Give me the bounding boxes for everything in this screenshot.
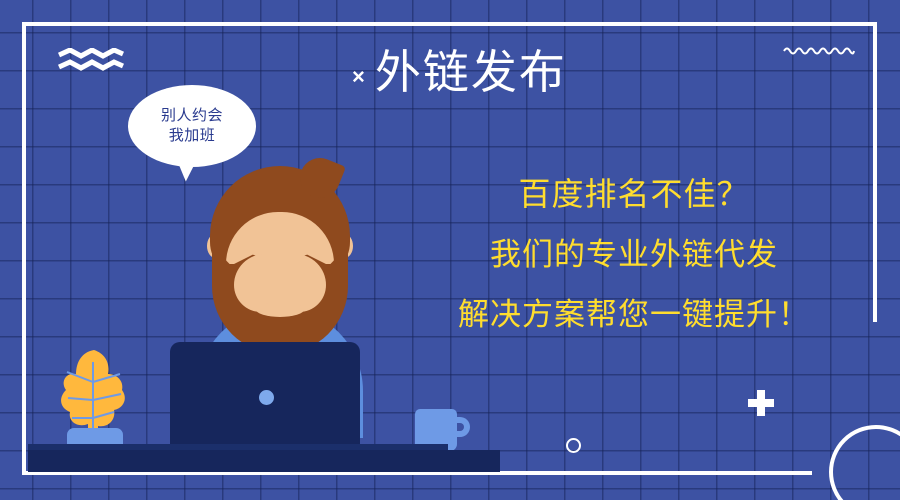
title-marker-icon: × — [352, 66, 365, 88]
plus-icon — [748, 390, 774, 416]
thin-wave-icon — [783, 44, 855, 56]
circle-outline-icon — [566, 438, 581, 453]
poster-canvas: × 外链发布 百度排名不佳？ 我们的专业外链代发 解决方案帮您一键提升！ 别人约… — [0, 0, 900, 500]
headline-block: 百度排名不佳？ 我们的专业外链代发 解决方案帮您一键提升！ — [404, 178, 864, 330]
speech-bubble-line-1: 别人约会 — [161, 106, 223, 126]
laptop-logo-dot — [259, 390, 274, 405]
decorative-frame-right-edge — [873, 22, 877, 322]
desk-surface — [28, 450, 500, 472]
person-mouth — [256, 302, 304, 317]
page-title: × 外链发布 — [352, 48, 567, 96]
headline-line-1: 百度排名不佳？ — [404, 178, 864, 210]
headline-line-2: 我们的专业外链代发 — [404, 239, 864, 270]
double-wave-icon — [58, 48, 124, 74]
title-text: 外链发布 — [375, 48, 567, 96]
speech-bubble-line-2: 我加班 — [169, 126, 216, 146]
headline-line-3: 解决方案帮您一键提升！ — [404, 299, 864, 330]
